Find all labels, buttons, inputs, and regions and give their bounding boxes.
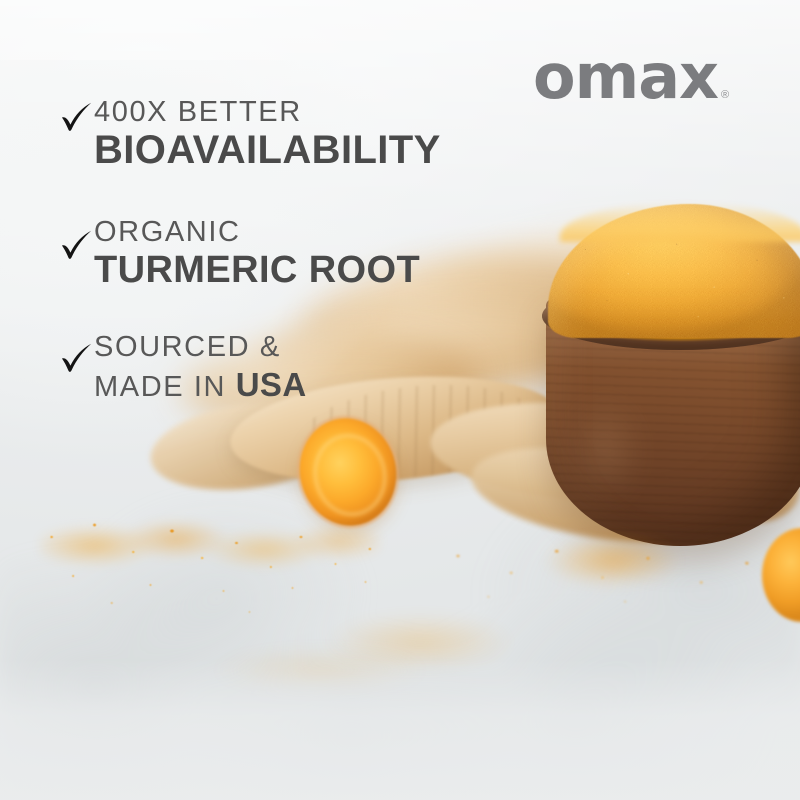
benefit-line-2: TURMERIC ROOT [94, 249, 530, 292]
checkmark-icon [60, 230, 94, 260]
benefit-text: SOURCED & MADE IN USA [94, 331, 530, 405]
registered-trademark-icon: ® [721, 90, 729, 101]
benefit-text: 400X BETTER BIOAVAILABILITY [94, 96, 530, 173]
benefit-line-2: MADE IN USA [94, 364, 530, 406]
benefit-text: ORGANIC TURMERIC ROOT [94, 216, 530, 291]
checkmark-icon [60, 102, 94, 132]
benefit-item-turmeric-root: ORGANIC TURMERIC ROOT [60, 216, 530, 291]
benefit-line-1: 400X BETTER [94, 96, 530, 128]
benefits-list: 400X BETTER BIOAVAILABILITY ORGANIC TURM… [60, 96, 530, 405]
benefit-line-2-prefix: MADE IN [94, 371, 236, 403]
benefit-line-1: SOURCED & [94, 331, 530, 363]
benefit-item-bioavailability: 400X BETTER BIOAVAILABILITY [60, 96, 530, 173]
omax-logo[interactable]: omax ® [533, 48, 729, 107]
benefit-line-1: ORGANIC [94, 216, 530, 248]
promo-image: omax ® 400X BETTER BIOAVAILABILITY ORG [0, 0, 800, 800]
benefit-item-made-in-usa: SOURCED & MADE IN USA [60, 331, 530, 405]
checkmark-icon [60, 343, 94, 373]
benefit-line-2-emphasis: USA [236, 366, 307, 403]
benefit-line-2: BIOAVAILABILITY [94, 128, 530, 173]
logo-wordmark: omax [533, 48, 718, 107]
